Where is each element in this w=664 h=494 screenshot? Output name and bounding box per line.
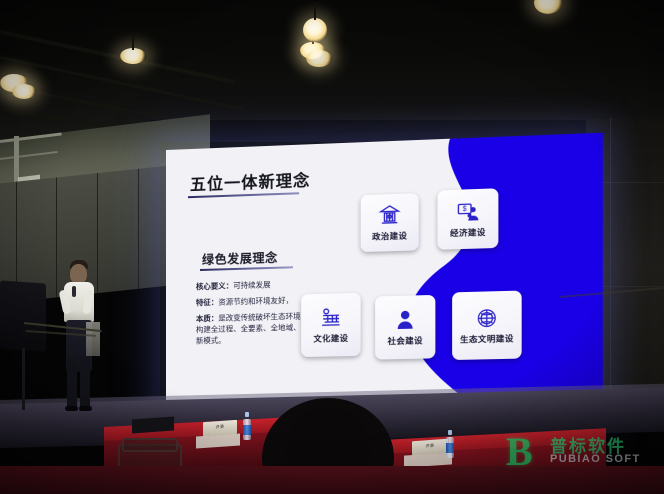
ceiling-truss [0, 56, 245, 111]
presenter-shoe [65, 406, 78, 411]
conference-photo-scene: 五位一体新理念 绿色发展理念 核心要义：可持续发展 特征：资源节约和环境友好， … [0, 0, 664, 494]
presenter-head [70, 264, 87, 284]
slide-title: 五位一体新理念 [190, 167, 310, 196]
blue-wave-shape [289, 133, 603, 416]
government-building-icon [377, 203, 402, 228]
card-label: 生态文明建设 [460, 334, 514, 345]
slide-card-cultural: 文化建设 [301, 293, 361, 357]
water-bottle [243, 412, 251, 440]
speaker-stand [22, 348, 25, 410]
water-bottle [446, 430, 454, 458]
body-line: 核心要义：可持续发展 [196, 277, 346, 292]
body-value: 可持续发展 [233, 280, 270, 290]
equipment-case [132, 417, 174, 434]
culture-monument-icon [319, 305, 344, 330]
ceiling-light [306, 50, 332, 67]
lamp-stem [314, 2, 316, 20]
body-key: 核心要义： [196, 281, 233, 291]
presenter-leg [67, 358, 77, 408]
ceiling-light [12, 84, 36, 99]
money-people-icon: $ [455, 199, 480, 224]
body-key: 本质： [196, 314, 218, 324]
slide-card-social: 社会建设 [375, 295, 435, 360]
podium [86, 322, 100, 356]
svg-text:$: $ [463, 206, 467, 213]
ceiling-truss [0, 30, 235, 84]
led-presentation-screen: 五位一体新理念 绿色发展理念 核心要义：可持续发展 特征：资源节约和环境友好， … [166, 133, 603, 418]
eco-globe-icon [474, 306, 499, 331]
card-label: 文化建设 [313, 334, 348, 345]
presenter-microphone [72, 286, 76, 297]
presenter-leg [80, 358, 90, 408]
ceiling-light [120, 48, 146, 64]
card-label: 社会建设 [388, 336, 423, 347]
slide-subtitle: 绿色发展理念 [202, 249, 278, 268]
ceiling-light [303, 18, 327, 42]
body-key: 特征： [196, 298, 218, 308]
slide-card-political: 政治建设 [361, 193, 419, 252]
presenter-shoe [79, 406, 92, 411]
slide-card-ecological: 生态文明建设 [452, 291, 522, 361]
slide-card-economic: $ 经济建设 [437, 188, 498, 250]
name-card-text: 评委 [412, 439, 448, 451]
lamp-stem [132, 36, 134, 50]
stage-speaker-cabinet [0, 280, 46, 351]
body-value: 资源节约和环境友好， [218, 296, 293, 307]
person-group-icon [393, 308, 418, 333]
floor-carpet [0, 466, 664, 494]
chair [122, 438, 178, 452]
card-label: 经济建设 [450, 228, 486, 239]
card-label: 政治建设 [372, 231, 407, 242]
name-card-text: 评委 [203, 420, 237, 431]
